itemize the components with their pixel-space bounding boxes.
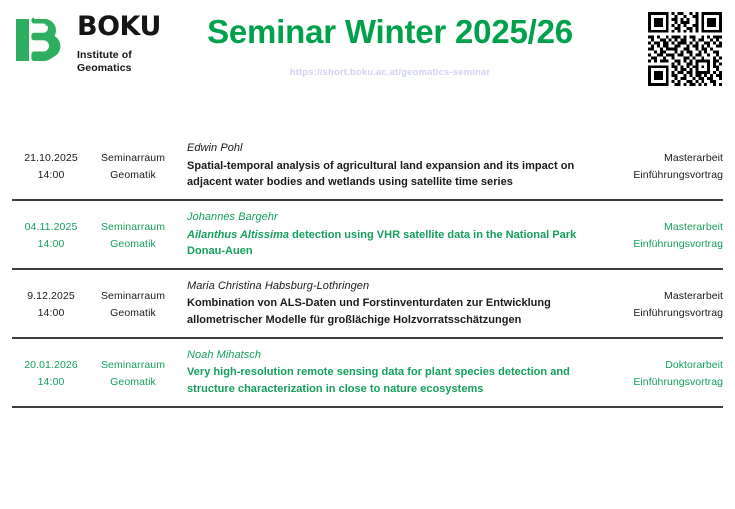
title-block: Seminar Winter 2025/26 https://short.bok… (160, 14, 620, 78)
talk-speaker: Maria Christina Habsburg-Lothringen (187, 279, 597, 295)
schedule-row: 04.11.202514:00SeminarraumGeomatikJohann… (0, 201, 735, 268)
schedule-row: 9.12.202514:00SeminarraumGeomatikMaria C… (0, 270, 735, 337)
schedule-time: 14:00 (12, 167, 90, 184)
schedule-talk: Noah MihatschVery high-resolution remote… (176, 347, 611, 397)
schedule-talk-type: DoktorarbeitEinführungsvortrag (611, 347, 723, 391)
room-line-2: Geomatik (90, 236, 176, 253)
talk-type-thesis: Masterarbeit (611, 150, 723, 167)
schedule-date: 20.01.2026 (12, 357, 90, 374)
talk-type-kind: Einführungsvortrag (611, 374, 723, 391)
room-line-1: Seminarraum (90, 357, 176, 374)
seminar-poster: BOKU Institute of Geomatics Seminar Wint… (0, 0, 735, 509)
schedule-talk-type: MasterarbeitEinführungsvortrag (611, 278, 723, 322)
room-line-2: Geomatik (90, 374, 176, 391)
schedule-datetime: 21.10.202514:00 (12, 140, 90, 184)
schedule-time: 14:00 (12, 305, 90, 322)
boku-logo-mark-icon (10, 11, 68, 69)
seminar-schedule: 21.10.202514:00SeminarraumGeomatikEdwin … (0, 132, 735, 408)
schedule-talk: Johannes BargehrAilanthus Altissima dete… (176, 209, 611, 259)
talk-type-thesis: Masterarbeit (611, 288, 723, 305)
talk-type-thesis: Masterarbeit (611, 219, 723, 236)
room-line-2: Geomatik (90, 305, 176, 322)
institute-line-2: Geomatics (77, 62, 161, 75)
schedule-datetime: 20.01.202614:00 (12, 347, 90, 391)
boku-logo: BOKU Institute of Geomatics (10, 10, 161, 75)
schedule-talk-type: MasterarbeitEinführungsvortrag (611, 209, 723, 253)
schedule-date: 04.11.2025 (12, 219, 90, 236)
room-line-1: Seminarraum (90, 288, 176, 305)
institute-line-1: Institute of (77, 49, 161, 62)
poster-header: BOKU Institute of Geomatics Seminar Wint… (0, 0, 735, 100)
talk-title: Ailanthus Altissima detection using VHR … (187, 227, 597, 259)
talk-speaker: Johannes Bargehr (187, 210, 597, 226)
schedule-datetime: 9.12.202514:00 (12, 278, 90, 322)
talk-type-kind: Einführungsvortrag (611, 236, 723, 253)
seminar-url-link[interactable]: https://short.boku.ac.at/geomatics-semin… (160, 67, 620, 78)
room-line-1: Seminarraum (90, 219, 176, 236)
schedule-date: 21.10.2025 (12, 150, 90, 167)
schedule-room: SeminarraumGeomatik (90, 140, 176, 184)
talk-type-thesis: Doktorarbeit (611, 357, 723, 374)
room-line-2: Geomatik (90, 167, 176, 184)
schedule-talk: Edwin PohlSpatial-temporal analysis of a… (176, 140, 611, 190)
schedule-row: 21.10.202514:00SeminarraumGeomatikEdwin … (0, 132, 735, 199)
room-line-1: Seminarraum (90, 150, 176, 167)
talk-speaker: Edwin Pohl (187, 141, 597, 157)
schedule-time: 14:00 (12, 374, 90, 391)
talk-type-kind: Einführungsvortrag (611, 305, 723, 322)
schedule-datetime: 04.11.202514:00 (12, 209, 90, 253)
talk-title: Kombination von ALS-Daten und Forstinven… (187, 295, 597, 327)
schedule-room: SeminarraumGeomatik (90, 209, 176, 253)
schedule-row: 20.01.202614:00SeminarraumGeomatikNoah M… (0, 339, 735, 406)
talk-title: Spatial-temporal analysis of agricultura… (187, 158, 597, 190)
boku-wordmark: BOKU (77, 13, 161, 40)
boku-institute-name: Institute of Geomatics (77, 49, 161, 75)
schedule-talk-type: MasterarbeitEinführungsvortrag (611, 140, 723, 184)
talk-title: Very high-resolution remote sensing data… (187, 364, 597, 396)
row-separator (12, 406, 723, 408)
talk-speaker: Noah Mihatsch (187, 348, 597, 364)
qr-code-icon[interactable] (648, 12, 722, 86)
schedule-room: SeminarraumGeomatik (90, 278, 176, 322)
schedule-time: 14:00 (12, 236, 90, 253)
schedule-talk: Maria Christina Habsburg-LothringenKombi… (176, 278, 611, 328)
page-title: Seminar Winter 2025/26 (160, 14, 620, 50)
schedule-room: SeminarraumGeomatik (90, 347, 176, 391)
talk-type-kind: Einführungsvortrag (611, 167, 723, 184)
schedule-date: 9.12.2025 (12, 288, 90, 305)
boku-logo-text: BOKU Institute of Geomatics (77, 13, 161, 75)
